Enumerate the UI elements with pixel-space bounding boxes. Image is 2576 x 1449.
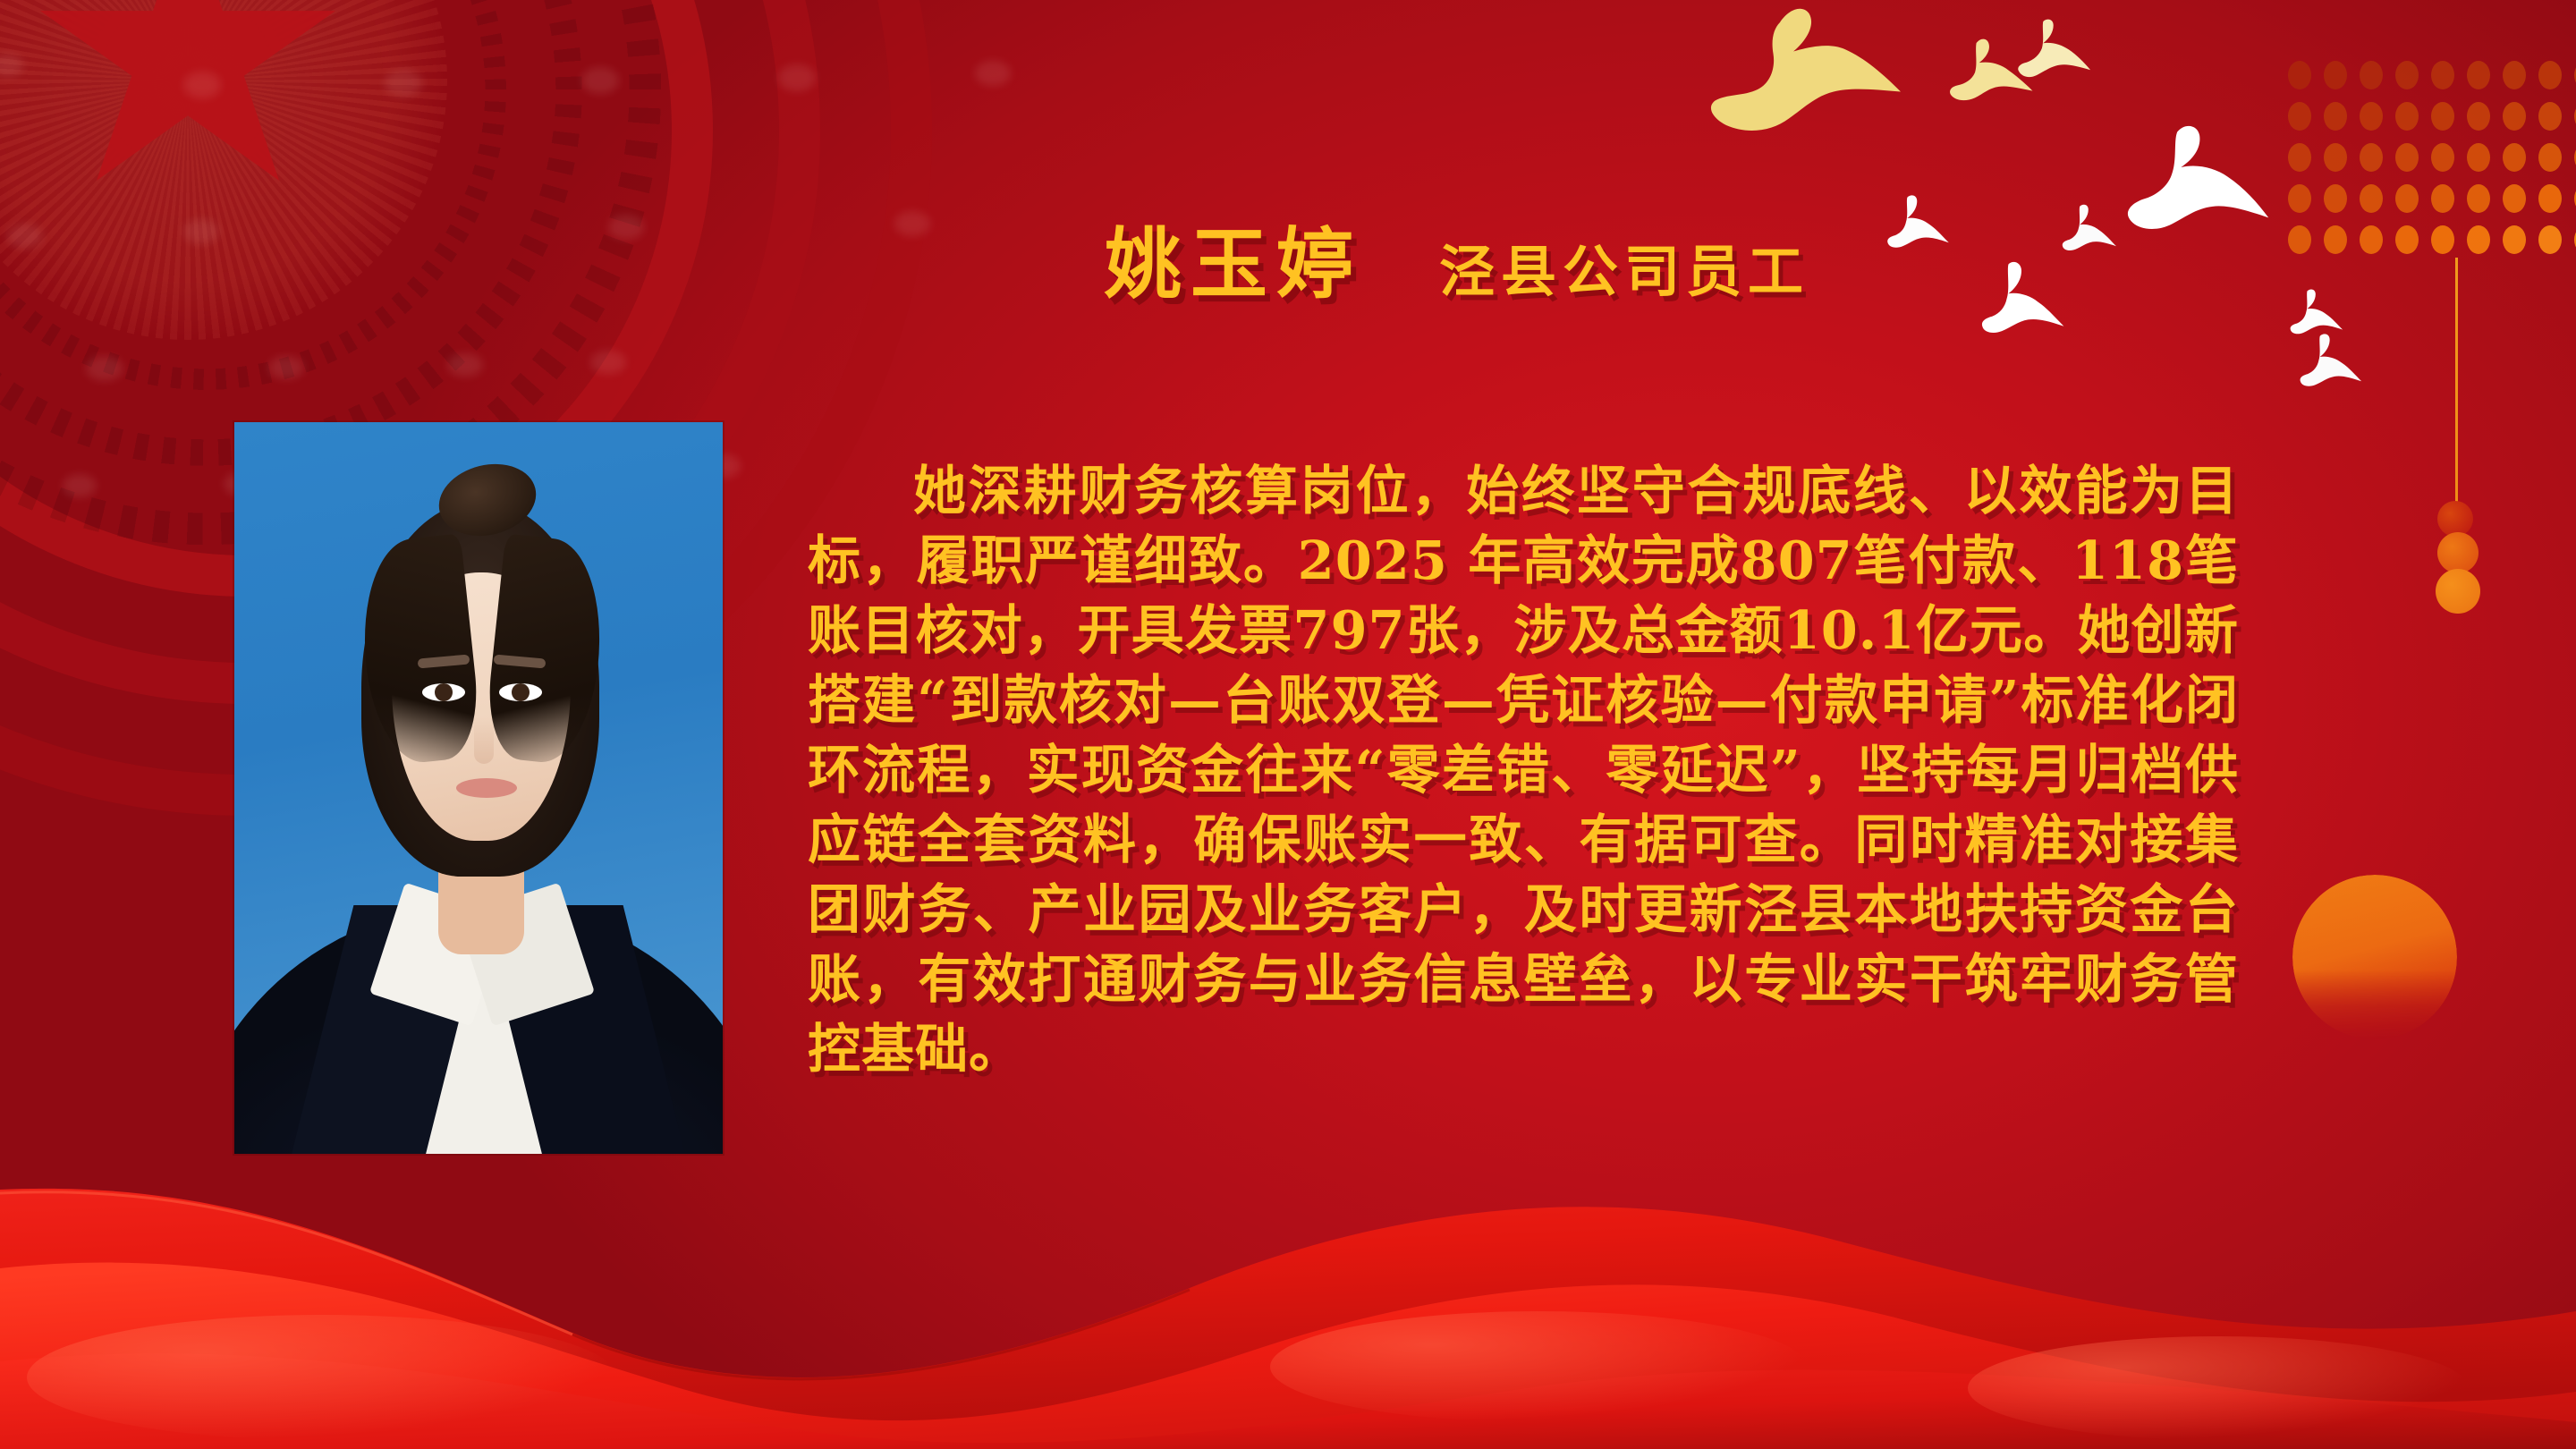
dove-white-small-e-icon	[2294, 331, 2368, 386]
grid-dot	[2324, 184, 2347, 213]
biography-paragraph: 她深耕财务核算岗位，始终坚守合规底线、以效能为目标，履职严谨细致。2025 年高…	[808, 456, 2239, 1084]
person-role: 泾县公司员工	[1439, 226, 1809, 307]
header: 姚玉婷 泾县公司员工	[1105, 201, 1809, 313]
grid-dot	[2324, 225, 2347, 254]
grid-dot	[2288, 225, 2311, 254]
slide-canvas: 姚玉婷 泾县公司员工 她深耕财务核算岗位，始终坚守合规底线、以效能为目标，履职严…	[0, 0, 2576, 1449]
speckle	[268, 356, 304, 379]
rail-circle-3	[2436, 569, 2480, 614]
rail-circle-1	[2437, 501, 2473, 537]
grid-dot	[2431, 184, 2454, 213]
grid-dot	[2288, 102, 2311, 131]
grid-dot	[2395, 143, 2419, 172]
grid-dot	[2467, 61, 2490, 89]
grid-dot	[2324, 102, 2347, 131]
grid-dot	[2538, 102, 2562, 131]
grid-dot	[2395, 61, 2419, 89]
grid-dot	[2538, 143, 2562, 172]
speckle	[590, 351, 626, 374]
speckle	[63, 474, 97, 497]
dove-white-small-d-icon	[2285, 286, 2348, 335]
grid-dot	[2395, 184, 2419, 213]
grid-dot	[2395, 102, 2419, 131]
grid-dot	[2538, 61, 2562, 89]
grid-dot	[2431, 102, 2454, 131]
portrait-photo	[234, 422, 723, 1154]
speckle	[894, 211, 930, 236]
grid-dot	[2538, 225, 2562, 254]
portrait-iris-left	[435, 683, 453, 701]
grid-dot	[2360, 61, 2383, 89]
grid-dot	[2467, 184, 2490, 213]
rail-circle-2	[2437, 532, 2479, 573]
dove-gold-small-b-icon	[2012, 16, 2102, 80]
speckle	[183, 72, 221, 98]
speckle	[385, 70, 422, 97]
grid-dot	[2288, 61, 2311, 89]
speckle	[581, 67, 619, 94]
portrait-mouth	[456, 778, 517, 798]
sun-circle	[2292, 875, 2457, 1039]
grid-dot	[2503, 184, 2526, 213]
grid-dot	[2360, 225, 2383, 254]
dove-white-small-b-icon	[2057, 201, 2122, 251]
rail-line	[2455, 258, 2458, 517]
grid-dot	[2288, 143, 2311, 172]
grid-dot	[2503, 61, 2526, 89]
speckle	[975, 61, 1011, 86]
portrait-iris-right	[512, 683, 530, 701]
grid-dot	[2360, 102, 2383, 131]
speckle	[608, 215, 644, 240]
grid-dot	[2360, 184, 2383, 213]
dove-gold-large-icon	[1704, 4, 1928, 139]
grid-dot	[2467, 143, 2490, 172]
speckle	[183, 219, 219, 244]
grid-dot	[2288, 184, 2311, 213]
grid-dot	[2431, 143, 2454, 172]
portrait-nose	[474, 717, 494, 764]
speckle	[447, 353, 483, 377]
grid-dot	[2324, 143, 2347, 172]
dove-white-small-a-icon	[1883, 192, 1956, 248]
biography-text: 她深耕财务核算岗位，始终坚守合规底线、以效能为目标，履职严谨细致。2025 年高…	[808, 456, 2239, 1084]
grid-dot	[2538, 184, 2562, 213]
grid-dot	[2431, 61, 2454, 89]
person-name: 姚玉婷	[1105, 201, 1362, 313]
silk-ribbon-decoration	[0, 1154, 2576, 1449]
dot-grid-decoration	[2288, 61, 2576, 254]
speckle	[86, 356, 123, 381]
dove-white-large-icon	[2120, 121, 2272, 233]
dove-white-small-c-icon	[1972, 259, 2071, 333]
speckle	[778, 64, 816, 91]
grid-dot	[2503, 143, 2526, 172]
grid-dot	[2503, 225, 2526, 254]
grid-dot	[2467, 102, 2490, 131]
grid-dot	[2467, 225, 2490, 254]
grid-dot	[2503, 102, 2526, 131]
grid-dot	[2431, 225, 2454, 254]
grid-dot	[2324, 61, 2347, 89]
grid-dot	[2360, 143, 2383, 172]
speckle	[7, 224, 43, 249]
grid-dot	[2395, 225, 2419, 254]
